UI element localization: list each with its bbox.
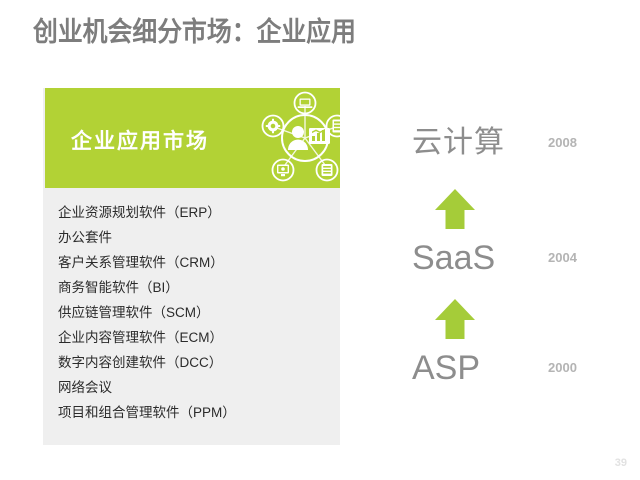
list-item: 供应链管理软件（SCM） (58, 300, 338, 325)
list-item: 项目和组合管理软件（PPM） (58, 400, 338, 425)
card-header-band: 企业应用市场 (45, 88, 340, 188)
card-header-label: 企业应用市场 (71, 125, 209, 155)
slide-canvas: 创业机会细分市场：企业应用 企业应用市场 (0, 0, 640, 480)
monitor-icon (273, 160, 294, 181)
up-arrow-icon (432, 186, 478, 232)
page-title: 创业机会细分市场：企业应用 (33, 19, 356, 46)
evolution-stage-label: ASP (412, 347, 480, 389)
evolution-stage-asp: ASP 2000 (400, 347, 610, 389)
evolution-stage-saas: SaaS 2004 (400, 237, 610, 279)
list-item: 企业内容管理软件（ECM） (58, 325, 338, 350)
page-number: 39 (615, 457, 627, 469)
list-item: 客户关系管理软件（CRM） (58, 250, 338, 275)
evolution-stage-year: 2008 (548, 122, 577, 164)
evolution-stage-year: 2004 (548, 237, 577, 279)
evolution-stage-label: SaaS (412, 237, 495, 279)
evolution-timeline: 云计算 2008 SaaS 2004 ASP 2000 (400, 110, 610, 400)
server-rack-icon (327, 116, 341, 137)
product-list: 企业资源规划软件（ERP） 办公套件 客户关系管理软件（CRM） 商务智能软件（… (58, 200, 338, 425)
evolution-stage-year: 2000 (548, 347, 577, 389)
enterprise-network-illustration (257, 90, 340, 186)
gear-icon (263, 116, 284, 137)
list-item: 商务智能软件（BI） (58, 275, 338, 300)
list-item: 数字内容创建软件（DCC） (58, 350, 338, 375)
list-item: 企业资源规划软件（ERP） (58, 200, 338, 225)
list-item: 办公套件 (58, 225, 338, 250)
evolution-stage-label: 云计算 (412, 122, 505, 164)
document-stack-icon (317, 160, 338, 181)
up-arrow-icon (432, 296, 478, 342)
list-item: 网络会议 (58, 375, 338, 400)
evolution-stage-cloud: 云计算 2008 (400, 122, 610, 164)
